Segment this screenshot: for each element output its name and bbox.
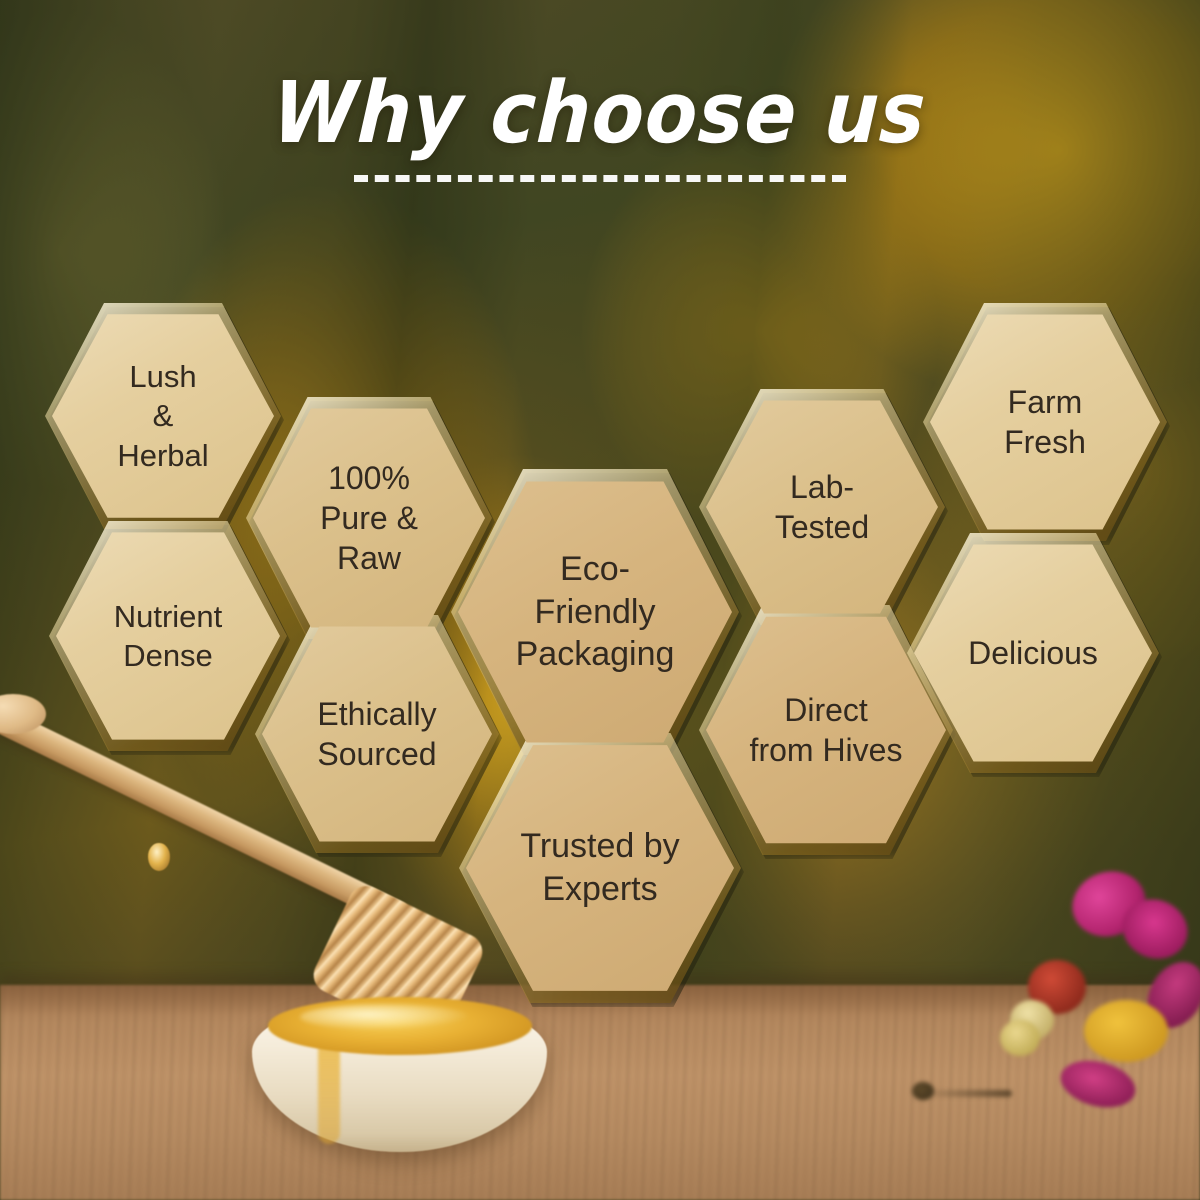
- hex-cell-label: EthicallySourced: [317, 694, 436, 775]
- hex-label-line: Eco-: [560, 550, 630, 588]
- hex-label-line: Lush: [129, 359, 196, 394]
- hex-cell-label: NutrientDense: [114, 597, 223, 675]
- honey-benefits-poster: Why choose us Lush&HerbalNutrientDense10…: [0, 0, 1200, 1200]
- hex-label-line: Sourced: [317, 736, 436, 772]
- hex-cell-label: Eco-FriendlyPackaging: [516, 548, 675, 676]
- hex-cell-label: Trusted byExperts: [520, 825, 679, 911]
- hex-label-line: Pure &: [320, 500, 418, 536]
- hex-label-line: Packaging: [516, 635, 675, 673]
- hex-label-line: Direct: [784, 692, 868, 728]
- hex-label-line: 100%: [328, 460, 410, 496]
- hex-label-line: Dense: [123, 638, 213, 673]
- hex-label-line: Raw: [337, 540, 401, 576]
- hex-cell-label: Directfrom Hives: [750, 690, 903, 771]
- hex-label-line: Ethically: [317, 696, 436, 732]
- title-divider: [354, 175, 846, 182]
- hex-cell-label: Delicious: [968, 633, 1098, 673]
- hex-label-line: Friendly: [535, 593, 656, 631]
- header: Why choose us: [0, 68, 1200, 182]
- hex-label-line: Tested: [775, 509, 869, 545]
- hex-label-line: Fresh: [1004, 424, 1086, 460]
- hex-cell-label: Lab-Tested: [775, 467, 869, 548]
- hex-label-line: Nutrient: [114, 599, 223, 634]
- hex-cell-label: FarmFresh: [1004, 382, 1086, 463]
- hex-cell-label: 100%Pure &Raw: [320, 458, 418, 579]
- hex-label-line: Experts: [542, 870, 657, 908]
- hex-cell-label: Lush&Herbal: [117, 357, 208, 474]
- hex-label-line: Herbal: [117, 438, 208, 473]
- hex-label-line: Delicious: [968, 635, 1098, 671]
- hex-label-line: &: [153, 398, 174, 433]
- hex-label-line: Lab-: [790, 469, 854, 505]
- hex-label-line: Farm: [1008, 384, 1083, 420]
- page-title: Why choose us: [271, 63, 929, 163]
- hex-label-line: from Hives: [750, 732, 903, 768]
- hex-label-line: Trusted by: [520, 827, 679, 865]
